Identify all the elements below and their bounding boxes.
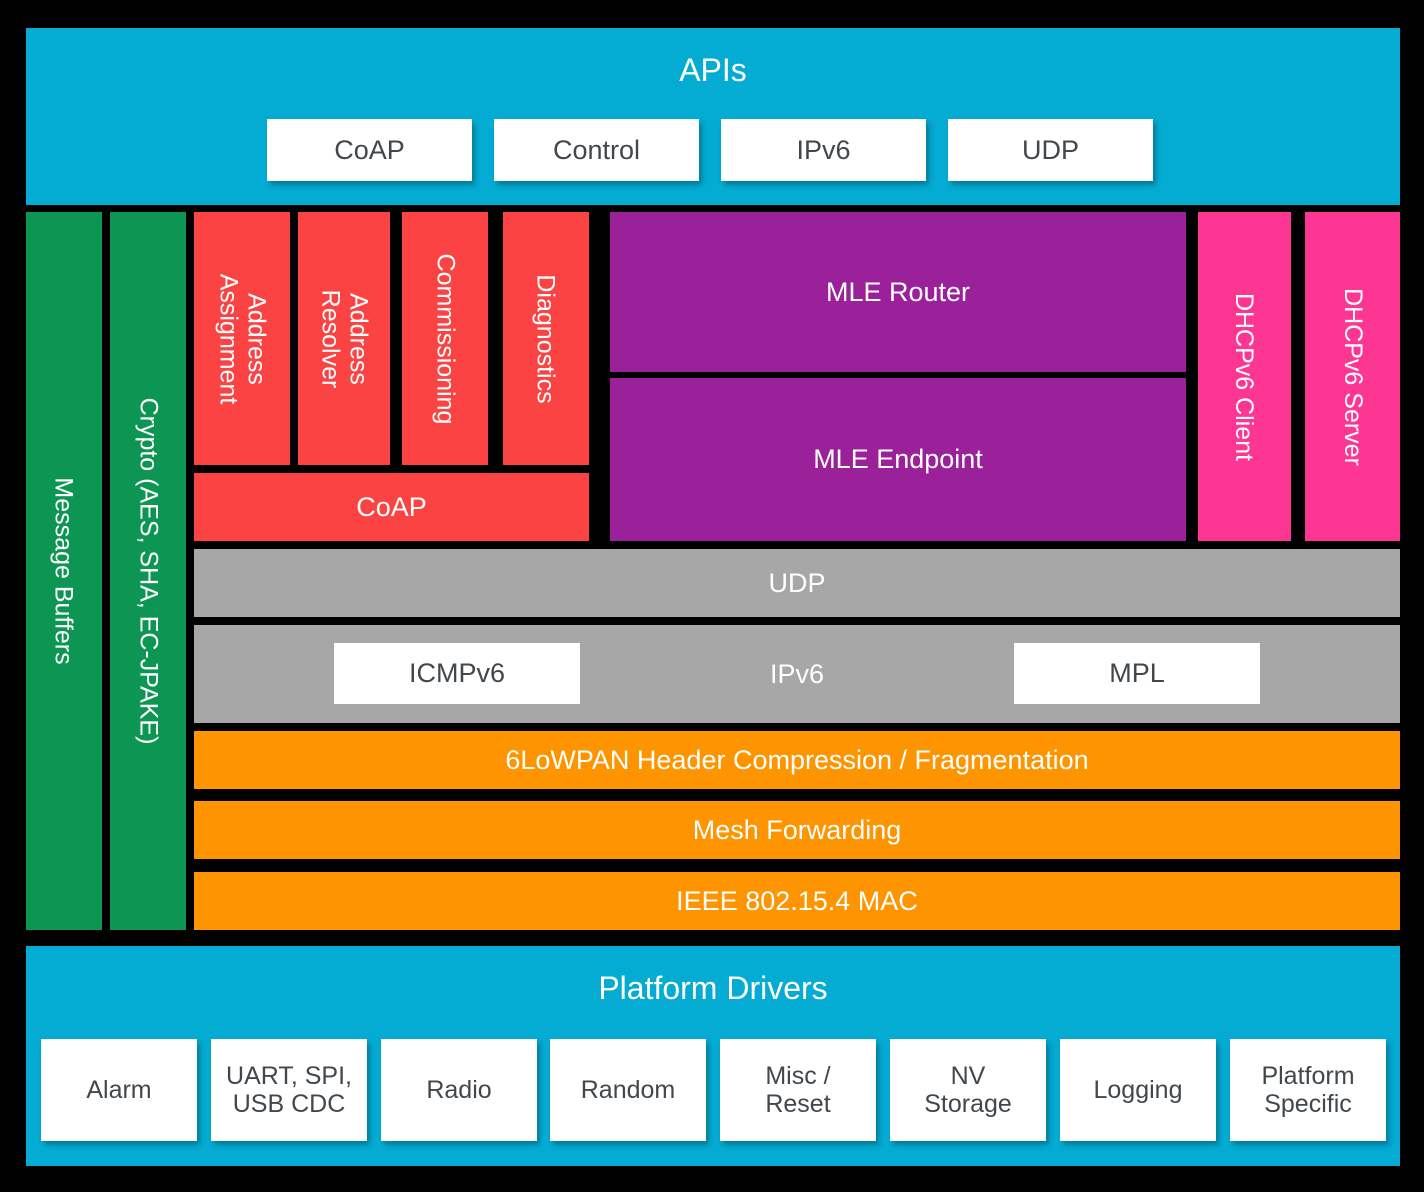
thread-module-address-resolver: Address Resolver: [298, 212, 390, 465]
thread-module-address-assignment-label: Address Assignment: [214, 273, 270, 404]
platform-chip-radio[interactable]: Radio: [381, 1039, 537, 1141]
dhcpv6-server-label: DHCPv6 Server: [1339, 288, 1367, 466]
thread-module-diagnostics: Diagnostics: [503, 212, 589, 465]
api-chip-udp[interactable]: UDP: [948, 119, 1153, 181]
platform-chip-platform-specific[interactable]: Platform Specific: [1230, 1039, 1386, 1141]
thread-coap-band: CoAP: [194, 473, 589, 541]
api-chip-ipv6[interactable]: IPv6: [721, 119, 926, 181]
api-layer-title: APIs: [26, 28, 1400, 113]
udp-band: UDP: [194, 549, 1400, 617]
mesh-forwarding-band: Mesh Forwarding: [194, 801, 1400, 859]
api-chip-coap[interactable]: CoAP: [267, 119, 472, 181]
dhcpv6-server-column: DHCPv6 Server: [1305, 212, 1400, 541]
platform-chip-logging[interactable]: Logging: [1060, 1039, 1216, 1141]
platform-chip-misc-reset[interactable]: Misc / Reset: [720, 1039, 876, 1141]
platform-chip-nv-storage[interactable]: NV Storage: [890, 1039, 1046, 1141]
lowpan-band: 6LoWPAN Header Compression / Fragmentati…: [194, 731, 1400, 789]
ieee-mac-band: IEEE 802.15.4 MAC: [194, 872, 1400, 930]
ipv6-chip-mpl[interactable]: MPL: [1014, 643, 1260, 704]
support-column-crypto: Crypto (AES, SHA, EC-JPAKE): [110, 212, 186, 930]
mle-router-block: MLE Router: [610, 212, 1186, 372]
thread-module-diagnostics-label: Diagnostics: [532, 274, 560, 403]
support-column-message-buffers-label: Message Buffers: [50, 477, 78, 664]
api-chip-control[interactable]: Control: [494, 119, 699, 181]
mle-endpoint-block: MLE Endpoint: [610, 378, 1186, 541]
thread-module-commissioning: Commissioning: [402, 212, 488, 465]
support-column-crypto-label: Crypto (AES, SHA, EC-JPAKE): [134, 398, 162, 745]
platform-chip-random[interactable]: Random: [550, 1039, 706, 1141]
dhcpv6-client-label: DHCPv6 Client: [1231, 292, 1259, 460]
dhcpv6-client-column: DHCPv6 Client: [1198, 212, 1291, 541]
stack-architecture-diagram: APIs CoAP Control IPv6 UDP Message Buffe…: [0, 0, 1424, 1192]
thread-module-address-assignment: Address Assignment: [194, 212, 290, 465]
platform-chip-uart-spi-usb-cdc[interactable]: UART, SPI, USB CDC: [211, 1039, 367, 1141]
platform-drivers-title: Platform Drivers: [26, 946, 1400, 1031]
thread-module-address-resolver-label: Address Resolver: [316, 289, 372, 388]
thread-module-commissioning-label: Commissioning: [431, 253, 459, 424]
ipv6-chip-icmpv6[interactable]: ICMPv6: [334, 643, 580, 704]
platform-chip-alarm[interactable]: Alarm: [41, 1039, 197, 1141]
support-column-message-buffers: Message Buffers: [26, 212, 102, 930]
api-layer: APIs: [26, 28, 1400, 205]
